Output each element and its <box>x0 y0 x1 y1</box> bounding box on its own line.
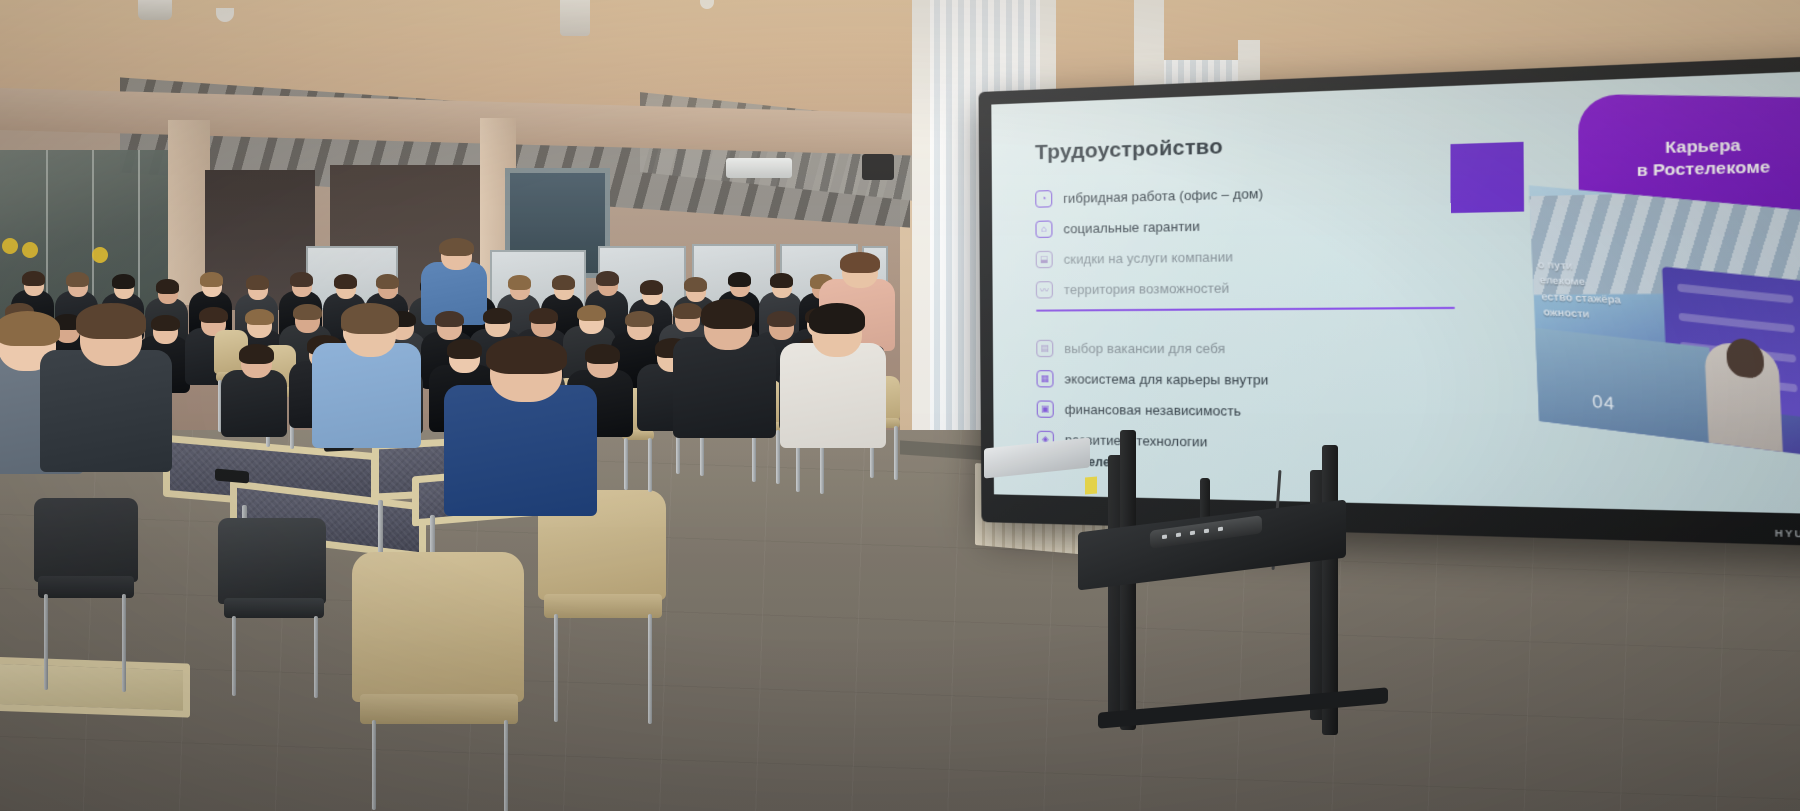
clock-icon: ◔ <box>1035 190 1052 208</box>
person-hair <box>334 274 357 288</box>
qr-code-icon[interactable] <box>1450 142 1524 213</box>
career-badge-line1: Карьера <box>1665 136 1741 157</box>
person-hair <box>625 311 653 328</box>
person-hair <box>596 271 619 285</box>
yellow-dot-1 <box>2 238 18 254</box>
slide-benefit-label: социальные гарантии <box>1063 218 1199 236</box>
person-hair <box>22 271 45 285</box>
grid-icon: ▦ <box>1036 370 1053 387</box>
window-frame-d <box>912 0 930 470</box>
tag-icon: ⬓ <box>1036 250 1053 267</box>
photo-screen-row-2 <box>1679 313 1795 333</box>
qr-eye-tr <box>1503 142 1524 162</box>
person-hair <box>376 274 399 288</box>
person-hair <box>486 336 567 374</box>
slide-benefit-label: гибридная работа (офис – дом) <box>1063 185 1263 205</box>
person-hair <box>640 280 663 294</box>
person-hair <box>0 311 60 346</box>
person-hair <box>112 274 135 288</box>
slide-benefit-label: территория возможностей <box>1064 280 1230 297</box>
tv-brand-badge: HYUNDAI <box>1775 528 1800 541</box>
person-hair <box>684 277 707 291</box>
slide-benefit-label: финансовая независимость <box>1065 401 1241 418</box>
wall-display[interactable]: Трудоустройство ◔гибридная работа (офис … <box>979 55 1800 548</box>
slide-benefit-label: выбор вакансии для себя <box>1064 340 1225 356</box>
slide-benefit-label: экосистема для карьеры внутри <box>1064 371 1268 387</box>
person-hair <box>199 307 227 324</box>
person-hair <box>577 305 605 322</box>
wallet-icon: ▣ <box>1037 400 1054 417</box>
yellow-dot-3 <box>92 247 108 263</box>
equipment-sticker <box>1085 476 1097 494</box>
slide-title: Трудоустройство <box>1035 135 1223 166</box>
list-icon: ▤ <box>1036 339 1053 356</box>
person-hair <box>701 299 756 329</box>
person-hair <box>483 308 511 325</box>
slide-photo-panel: о путиелекомеество стажёраожности 04 <box>1529 185 1800 459</box>
person-torso <box>312 343 422 448</box>
slide-benefits-upper: ◔гибридная работа (офис – дом)⌂социальны… <box>1035 172 1449 304</box>
person-hair <box>552 275 575 289</box>
photo-scene: Трудоустройство ◔гибридная работа (офис … <box>0 0 1800 811</box>
slide-benefit-item: ▦экосистема для карьеры внутри <box>1036 363 1461 396</box>
ceiling-speaker-icon <box>138 0 172 20</box>
person-hair <box>508 275 531 289</box>
person-hair <box>290 272 313 286</box>
audience-person-front <box>62 300 198 474</box>
person-hair <box>840 252 880 273</box>
person-hair <box>76 303 146 339</box>
slide-benefit-item: ▤выбор вакансии для себя <box>1036 332 1461 364</box>
person-torso <box>221 370 287 437</box>
photo-screen-row-1 <box>1677 284 1793 304</box>
tv-screen: Трудоустройство ◔гибридная работа (офис … <box>991 70 1800 514</box>
slide-benefit-item: 〰территория возможностей <box>1036 269 1449 304</box>
person-hair <box>200 272 223 286</box>
wall-speaker-icon <box>862 154 894 180</box>
qr-eye-tl <box>1450 144 1471 164</box>
qr-module <box>1517 205 1524 211</box>
slide-benefits-lower: ▤выбор вакансии для себя▦экосистема для … <box>1036 332 1461 462</box>
person-torso <box>780 343 886 448</box>
person-hair <box>341 303 399 334</box>
slide-benefit-item: ⬓скидки на услуги компании <box>1036 237 1449 274</box>
qr-eye-bl <box>1451 193 1472 213</box>
person-hair <box>770 273 793 287</box>
career-badge-line2: в Ростелекоме <box>1636 158 1770 181</box>
slide-divider-rule <box>1036 307 1455 312</box>
person-torso <box>444 385 597 515</box>
person-hair <box>293 304 321 321</box>
table-bottom-left <box>0 656 190 717</box>
remote-key-5 <box>1218 527 1223 532</box>
slide-benefit-label: скидки на услуги компании <box>1064 248 1234 266</box>
person-hair <box>245 309 273 326</box>
tv-bezel: Трудоустройство ◔гибридная работа (офис … <box>979 55 1800 548</box>
slide-number: 04 <box>1592 392 1616 415</box>
ceiling-projector-mount <box>560 0 590 36</box>
audience-person-front <box>798 300 907 450</box>
person-hair <box>239 344 274 364</box>
remote-key-1 <box>1162 534 1167 539</box>
remote-key-2 <box>1176 533 1181 538</box>
person-hair <box>529 308 557 325</box>
person-hair <box>156 279 179 293</box>
person-torso <box>673 337 776 438</box>
remote-key-3 <box>1190 531 1195 536</box>
person-hair <box>728 272 751 286</box>
audience-person-front <box>470 332 626 518</box>
person-hair <box>66 272 89 286</box>
umbrella-icon: ⌂ <box>1035 220 1052 238</box>
map-icon: 〰 <box>1036 281 1053 298</box>
yellow-dot-2 <box>22 242 38 258</box>
audience-person-front <box>330 300 442 450</box>
person-hair <box>809 303 865 334</box>
person-torso <box>40 350 173 472</box>
photo-caption: о путиелекомеество стажёраожности <box>1537 258 1674 327</box>
person-hair <box>439 238 474 257</box>
person-hair <box>246 275 269 289</box>
photo-crowd <box>1531 327 1715 454</box>
chair-leg <box>648 438 652 492</box>
air-conditioner-icon <box>726 158 792 178</box>
remote-key-4 <box>1204 529 1209 534</box>
